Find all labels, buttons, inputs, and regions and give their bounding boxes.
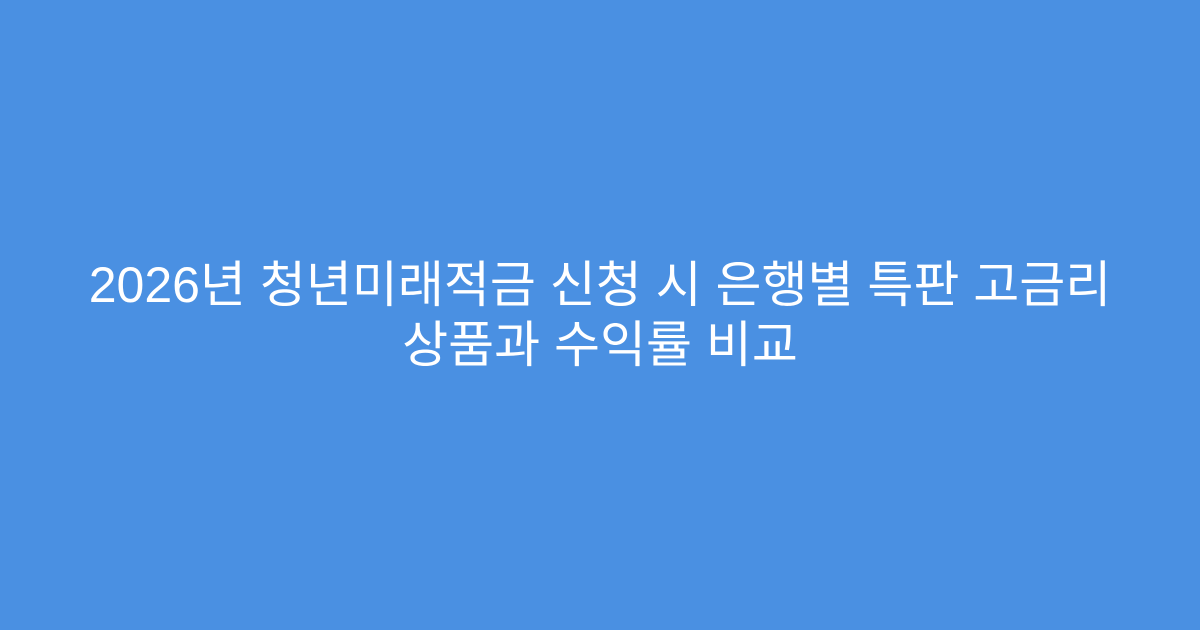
banner-card: 2026년 청년미래적금 신청 시 은행별 특판 고금리 상품과 수익률 비교: [0, 0, 1200, 630]
page-title: 2026년 청년미래적금 신청 시 은행별 특판 고금리 상품과 수익률 비교: [70, 255, 1130, 375]
banner-content: 2026년 청년미래적금 신청 시 은행별 특판 고금리 상품과 수익률 비교: [0, 255, 1200, 375]
